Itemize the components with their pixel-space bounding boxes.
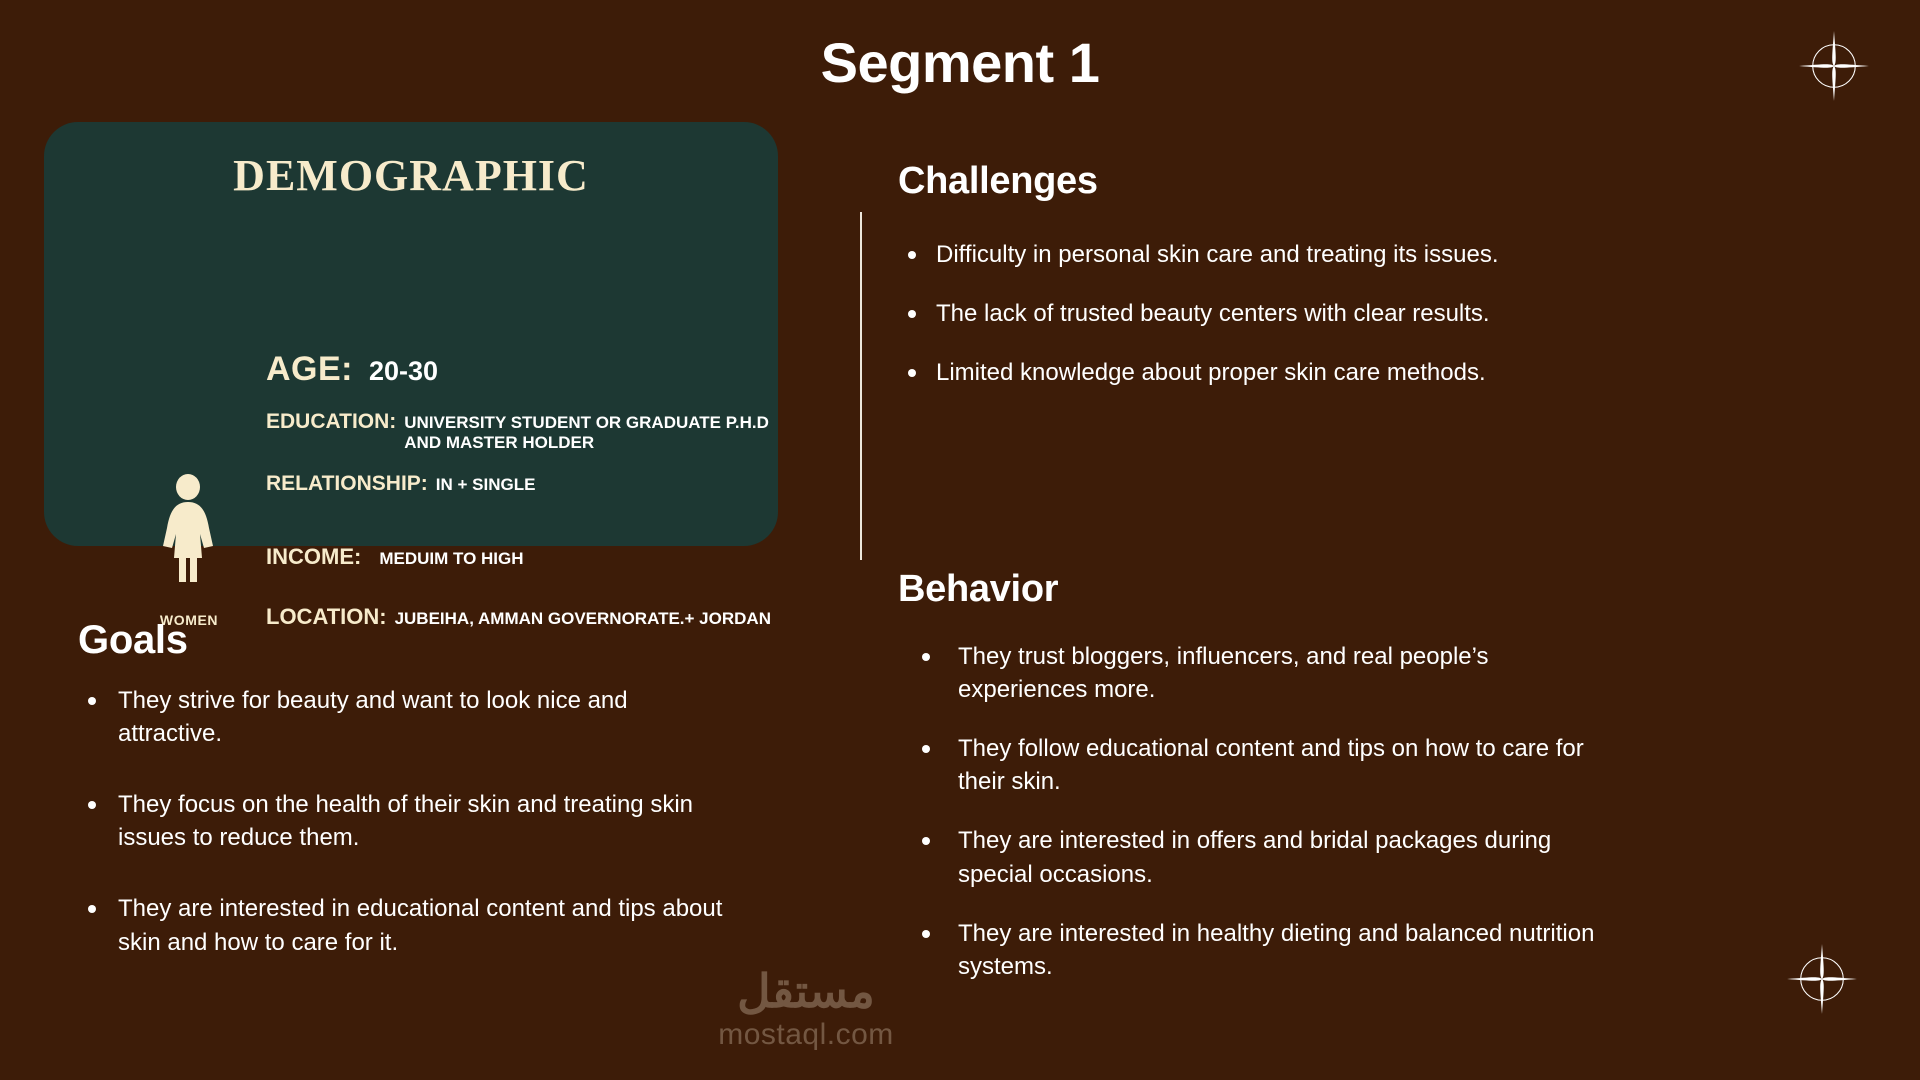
education-value: UNIVERSITY STUDENT OR GRADUATE P.H.D AND…: [404, 413, 778, 452]
list-item: The lack of trusted beauty centers with …: [890, 297, 1590, 330]
list-item: They are interested in healthy dieting a…: [900, 917, 1620, 983]
demographic-card: DEMOGRAPHIC AGE: 20-30 EDUCATION: UNIVER…: [44, 122, 778, 546]
behavior-list: They trust bloggers, influencers, and re…: [900, 640, 1620, 1009]
goals-heading: Goals: [78, 618, 188, 663]
age-label: AGE:: [266, 350, 353, 389]
income-value: MEDUIM TO HIGH: [379, 549, 523, 569]
persona-slide: Segment 1 DEMOGRAPHIC AGE: 20-30 EDUCATI…: [0, 0, 1920, 1080]
demographic-row-relationship: RELATIONSHIP: IN + SINGLE: [266, 472, 535, 496]
sparkle-icon: [1784, 941, 1860, 1022]
list-item: They strive for beauty and want to look …: [70, 684, 730, 750]
list-item: They trust bloggers, influencers, and re…: [900, 640, 1620, 706]
location-label: LOCATION:: [266, 604, 387, 630]
watermark-arabic-text: مستقل: [686, 968, 926, 1014]
relationship-label: RELATIONSHIP:: [266, 472, 428, 496]
age-value: 20-30: [369, 356, 438, 387]
watermark-latin-text: mostaql.com: [686, 1018, 926, 1052]
watermark: مستقل mostaql.com: [686, 968, 926, 1052]
demographic-heading: DEMOGRAPHIC: [70, 150, 752, 201]
list-item: They are interested in educational conte…: [70, 892, 730, 958]
goals-list: They strive for beauty and want to look …: [70, 684, 730, 997]
page-title: Segment 1: [0, 30, 1920, 95]
demographic-row-education: EDUCATION: UNIVERSITY STUDENT OR GRADUAT…: [266, 410, 778, 452]
sparkle-icon: [1796, 28, 1872, 109]
challenges-heading: Challenges: [898, 160, 1098, 203]
list-item: They follow educational content and tips…: [900, 732, 1620, 798]
woman-figure-icon: [154, 474, 222, 584]
vertical-divider: [860, 212, 862, 560]
relationship-value: IN + SINGLE: [436, 475, 536, 495]
challenges-list: Difficulty in personal skin care and tre…: [890, 238, 1590, 415]
education-label: EDUCATION:: [266, 410, 396, 434]
demographic-row-location: LOCATION: JUBEIHA, AMMAN GOVERNORATE.+ J…: [266, 604, 771, 630]
location-value: JUBEIHA, AMMAN GOVERNORATE.+ JORDAN: [395, 609, 771, 629]
list-item: Difficulty in personal skin care and tre…: [890, 238, 1590, 271]
list-item: They focus on the health of their skin a…: [70, 788, 730, 854]
list-item: They are interested in offers and bridal…: [900, 824, 1620, 890]
demographic-row-income: INCOME: MEDUIM TO HIGH: [266, 544, 524, 570]
income-label: INCOME:: [266, 544, 361, 570]
behavior-heading: Behavior: [898, 568, 1058, 611]
demographic-row-age: AGE: 20-30: [266, 350, 438, 389]
list-item: Limited knowledge about proper skin care…: [890, 356, 1590, 389]
